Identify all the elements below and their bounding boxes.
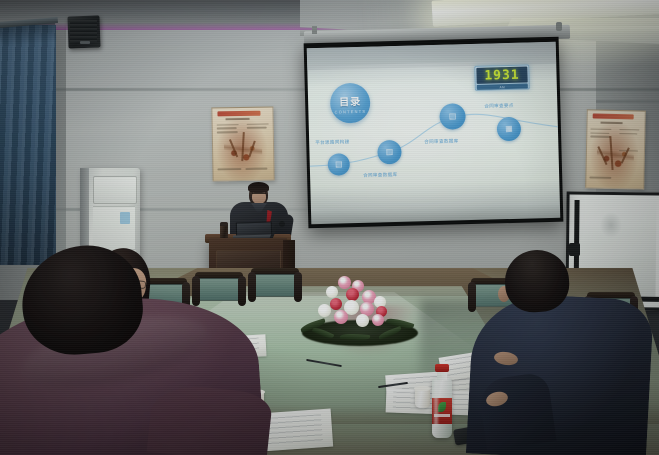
- presenter-glasses: [252, 193, 266, 197]
- poster-subtitle-bar: [600, 121, 623, 124]
- paper-cup-right-rim: [414, 386, 431, 391]
- centerpiece-bloom-pink: [372, 314, 384, 326]
- centerpiece-bloom-red: [346, 288, 359, 301]
- slide-node-2-glyph: ▥: [386, 148, 394, 156]
- poster-text-line: [217, 169, 241, 171]
- poster-subtitle-bar: [226, 118, 250, 121]
- paper-cup-right[interactable]: [415, 388, 430, 408]
- clock-status-bar: AM: [477, 84, 528, 90]
- thermos-cap: [220, 222, 228, 226]
- centerpiece-bloom-red: [330, 298, 342, 310]
- clock-subtext: AM: [500, 85, 506, 89]
- clock-face: 1931: [476, 67, 527, 84]
- speaker-badge: [80, 41, 90, 44]
- chair-backrest: [252, 274, 300, 297]
- wall-poster-left: [211, 106, 274, 181]
- clock-digits: 1931: [484, 67, 520, 83]
- presenter-hair: [248, 182, 269, 193]
- poster-text-line: [246, 123, 269, 125]
- window-curtain: [0, 25, 56, 265]
- slide-node-4-glyph: ▦: [505, 125, 513, 133]
- poster-text-line: [591, 128, 612, 130]
- slide-node-3-caption: 合同审查数据库: [424, 138, 458, 145]
- air-conditioner-display-label: [120, 212, 130, 224]
- chair-frame-left: [468, 282, 476, 312]
- screen-bracket-right: [556, 22, 562, 31]
- water-bottle-highlight: [434, 380, 438, 426]
- centerpiece-bloom-white: [326, 286, 338, 298]
- chair-frame-left: [248, 272, 256, 302]
- wall-poster-right: [585, 109, 646, 189]
- speaker-grill: [70, 20, 97, 42]
- centerpiece-bloom-white: [318, 304, 331, 317]
- poster-text-line: [216, 124, 239, 126]
- poster-text-line: [619, 129, 640, 131]
- poster-text-line: [246, 168, 268, 170]
- slide-node-4-caption: 合同审查要点: [484, 103, 514, 110]
- chair-backrest: [196, 278, 244, 301]
- slide-node-1-caption: 平台思路同构建: [315, 139, 349, 146]
- slide-node-1-glyph: ▤: [335, 160, 343, 168]
- slide-contents-title-en: CONTENTS: [335, 108, 367, 114]
- whiteboard-smudge: [600, 212, 622, 238]
- microphone-head: [279, 221, 285, 227]
- whiteboard-height-knob[interactable]: [569, 243, 580, 256]
- conference-room-photo: 目录 CONTENTS ▤ 平台思路同构建 ▥ 合同审查数据库 ▤ 合同审查数据…: [0, 0, 659, 455]
- projection-screen-surface[interactable]: 目录 CONTENTS ▤ 平台思路同构建 ▥ 合同审查数据库 ▤ 合同审查数据…: [307, 42, 561, 224]
- chair-frame-right: [294, 272, 302, 302]
- attendee-right-arm: [477, 371, 556, 450]
- centerpiece-bloom-white: [356, 314, 369, 327]
- slide-contents-title-cn: 目录: [339, 92, 361, 108]
- poster-text-line: [590, 177, 612, 179]
- wall-trim-line-right: [596, 100, 659, 103]
- screen-bracket-left: [312, 26, 317, 34]
- chair-frame-left: [192, 276, 200, 306]
- centerpiece-bloom-pink: [334, 310, 348, 324]
- water-bottle-cap[interactable]: [435, 364, 449, 372]
- centerpiece-bloom-pink: [338, 276, 351, 289]
- air-conditioner-vent: [93, 176, 137, 204]
- chair-frame-right: [238, 276, 246, 306]
- poster-title-bar: [592, 114, 633, 120]
- slide-node-2-caption: 合同审查数据库: [363, 172, 397, 179]
- slide-node-3-glyph: ▤: [449, 112, 457, 120]
- poster-title-bar: [217, 111, 260, 117]
- digital-clock: 1931 AM: [474, 64, 530, 90]
